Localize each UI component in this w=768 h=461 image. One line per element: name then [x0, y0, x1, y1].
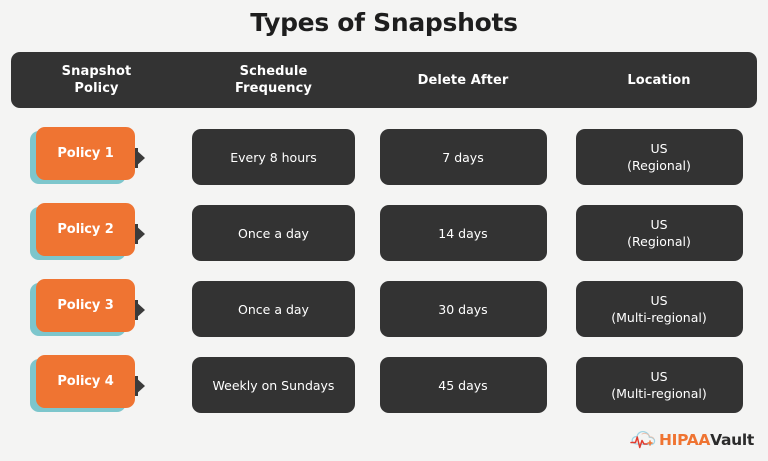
- location-line2: (Regional): [627, 233, 691, 250]
- delete-after-line1: 30 days: [438, 301, 487, 318]
- policy-chip[interactable]: Policy 2: [30, 206, 155, 260]
- policy-chip[interactable]: Policy 1: [30, 130, 155, 184]
- schedule-line1: Once a day: [238, 301, 309, 318]
- location-cell: US (Regional): [561, 205, 757, 261]
- schedule-card[interactable]: Once a day: [192, 205, 355, 261]
- schedule-card[interactable]: Once a day: [192, 281, 355, 337]
- policy-cell: Policy 2: [11, 206, 182, 260]
- location-line1: US: [650, 216, 667, 233]
- schedule-cell: Weekly on Sundays: [182, 357, 365, 413]
- location-line1: US: [650, 140, 667, 157]
- schedule-line1: Once a day: [238, 225, 309, 242]
- policy-cell: Policy 1: [11, 130, 182, 184]
- delete-after-cell: 45 days: [365, 357, 561, 413]
- location-line2: (Multi-regional): [611, 385, 706, 402]
- table-row: Policy 4 Weekly on Sundays 45 days US (M…: [11, 355, 757, 415]
- arrow-right-icon: [134, 148, 145, 168]
- delete-after-cell: 30 days: [365, 281, 561, 337]
- policy-cell: Policy 4: [11, 358, 182, 412]
- policy-chip-label: Policy 1: [36, 127, 135, 180]
- delete-after-card[interactable]: 14 days: [380, 205, 547, 261]
- logo-text-hipaa: HIPAA: [659, 431, 710, 449]
- schedule-cell: Once a day: [182, 281, 365, 337]
- column-header-line1: Delete After: [365, 72, 561, 89]
- location-cell: US (Regional): [561, 129, 757, 185]
- location-cell: US (Multi-regional): [561, 357, 757, 413]
- delete-after-cell: 14 days: [365, 205, 561, 261]
- location-card[interactable]: US (Regional): [576, 129, 743, 185]
- cloud-heartbeat-icon: [630, 429, 657, 451]
- column-header-line1: Snapshot: [11, 63, 182, 80]
- delete-after-card[interactable]: 7 days: [380, 129, 547, 185]
- logo-text-vault: Vault: [710, 431, 754, 449]
- brand-logo: HIPAA Vault: [630, 428, 754, 452]
- policy-chip-label: Policy 3: [36, 279, 135, 332]
- column-header-line2: Policy: [11, 80, 182, 97]
- table-row: Policy 3 Once a day 30 days US (Multi-re…: [11, 279, 757, 339]
- schedule-cell: Once a day: [182, 205, 365, 261]
- column-header-line2: Frequency: [182, 80, 365, 97]
- location-card[interactable]: US (Multi-regional): [576, 357, 743, 413]
- arrow-right-icon: [134, 224, 145, 244]
- delete-after-cell: 7 days: [365, 129, 561, 185]
- delete-after-line1: 45 days: [438, 377, 487, 394]
- location-card[interactable]: US (Multi-regional): [576, 281, 743, 337]
- schedule-card[interactable]: Weekly on Sundays: [192, 357, 355, 413]
- location-card[interactable]: US (Regional): [576, 205, 743, 261]
- table-header-bar: Snapshot Policy Schedule Frequency Delet…: [11, 52, 757, 108]
- policy-chip-label: Policy 2: [36, 203, 135, 256]
- schedule-cell: Every 8 hours: [182, 129, 365, 185]
- location-line1: US: [650, 292, 667, 309]
- schedule-line1: Weekly on Sundays: [213, 377, 335, 394]
- location-cell: US (Multi-regional): [561, 281, 757, 337]
- arrow-right-icon: [134, 300, 145, 320]
- page-title: Types of Snapshots: [0, 8, 768, 37]
- column-header-snapshot-policy: Snapshot Policy: [11, 63, 182, 97]
- policy-chip-label: Policy 4: [36, 355, 135, 408]
- table-row: Policy 1 Every 8 hours 7 days US (Region…: [11, 127, 757, 187]
- location-line2: (Regional): [627, 157, 691, 174]
- column-header-delete-after: Delete After: [365, 72, 561, 89]
- policy-cell: Policy 3: [11, 282, 182, 336]
- schedule-card[interactable]: Every 8 hours: [192, 129, 355, 185]
- column-header-location: Location: [561, 72, 757, 89]
- table-row: Policy 2 Once a day 14 days US (Regional…: [11, 203, 757, 263]
- policy-chip[interactable]: Policy 4: [30, 358, 155, 412]
- location-line2: (Multi-regional): [611, 309, 706, 326]
- policy-chip[interactable]: Policy 3: [30, 282, 155, 336]
- delete-after-card[interactable]: 45 days: [380, 357, 547, 413]
- column-header-line1: Location: [561, 72, 757, 89]
- column-header-line1: Schedule: [182, 63, 365, 80]
- schedule-line1: Every 8 hours: [230, 149, 317, 166]
- table-body: Policy 1 Every 8 hours 7 days US (Region…: [11, 127, 757, 431]
- location-line1: US: [650, 368, 667, 385]
- delete-after-line1: 7 days: [442, 149, 483, 166]
- delete-after-card[interactable]: 30 days: [380, 281, 547, 337]
- column-header-schedule-frequency: Schedule Frequency: [182, 63, 365, 97]
- delete-after-line1: 14 days: [438, 225, 487, 242]
- arrow-right-icon: [134, 376, 145, 396]
